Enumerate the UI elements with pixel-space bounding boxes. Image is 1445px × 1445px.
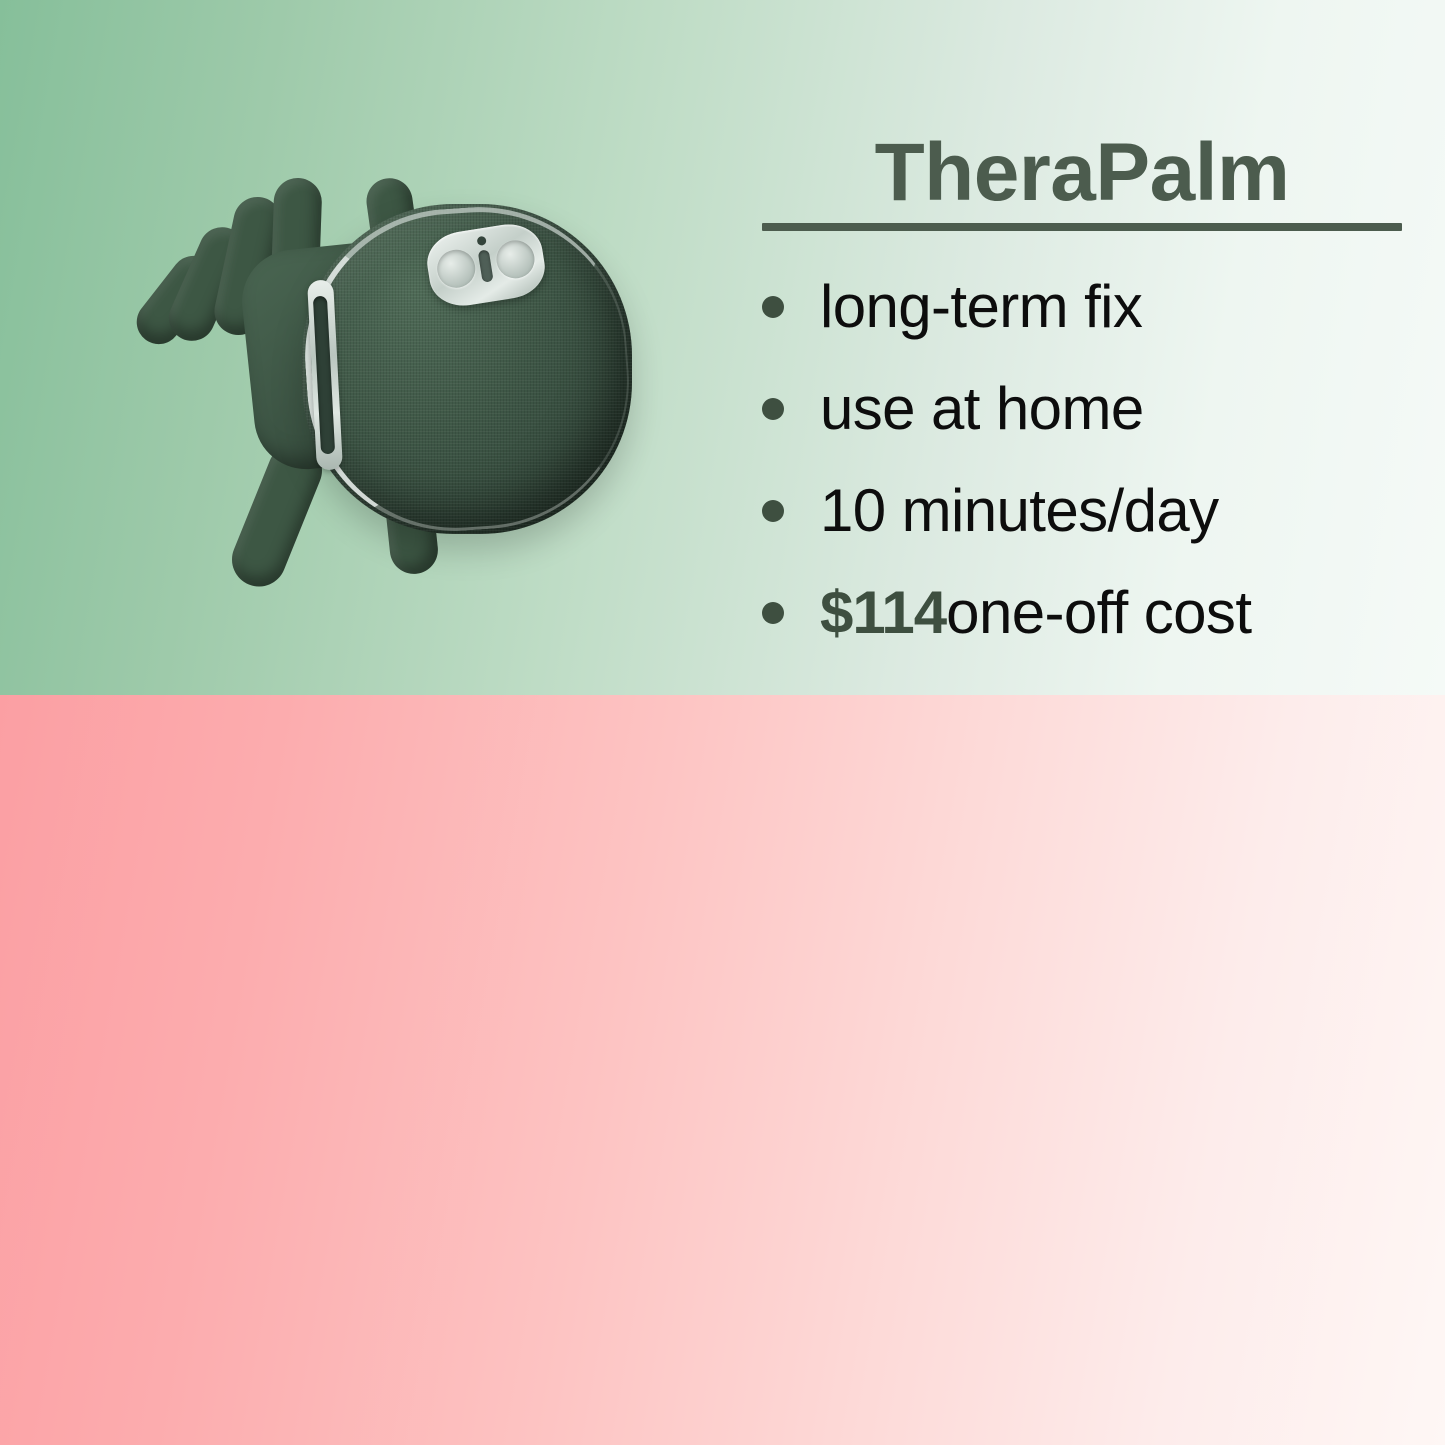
list-item: $114 one-off cost [762, 583, 1402, 643]
bullet-text: long-term fix [820, 277, 1142, 337]
power-button-icon [494, 238, 537, 281]
panel-therapalm: TheraPalm long-term fix use at home 10 m… [0, 0, 1445, 695]
therapalm-bullet-list: long-term fix use at home 10 minutes/day… [762, 277, 1402, 643]
price-value: $114 [820, 583, 946, 643]
product-image-therapalm [120, 150, 650, 600]
list-item: 10 minutes/day [762, 481, 1402, 541]
comparison-infographic: TheraPalm long-term fix use at home 10 m… [0, 0, 1445, 1445]
therapalm-heading-underline [762, 223, 1402, 231]
therapalm-text-block: TheraPalm long-term fix use at home 10 m… [762, 130, 1402, 685]
list-item: use at home [762, 379, 1402, 439]
bullet-dot-icon [762, 602, 784, 624]
mode-button-icon [434, 247, 477, 290]
list-item: long-term fix [762, 277, 1402, 337]
bullet-dot-icon [762, 296, 784, 318]
bullet-dot-icon [762, 398, 784, 420]
bullet-text: 10 minutes/day [820, 481, 1219, 541]
bullet-text: use at home [820, 379, 1144, 439]
side-slot [313, 296, 335, 455]
panel-masseurs: masseurs temporary fix appointments a fe… [0, 695, 1445, 1445]
therapalm-heading-wrap: TheraPalm [762, 130, 1402, 231]
bullet-text: one-off cost [946, 583, 1251, 643]
bullet-dot-icon [762, 500, 784, 522]
therapalm-heading: TheraPalm [875, 130, 1290, 215]
control-slot [478, 249, 494, 282]
led-indicator-icon [477, 236, 487, 246]
